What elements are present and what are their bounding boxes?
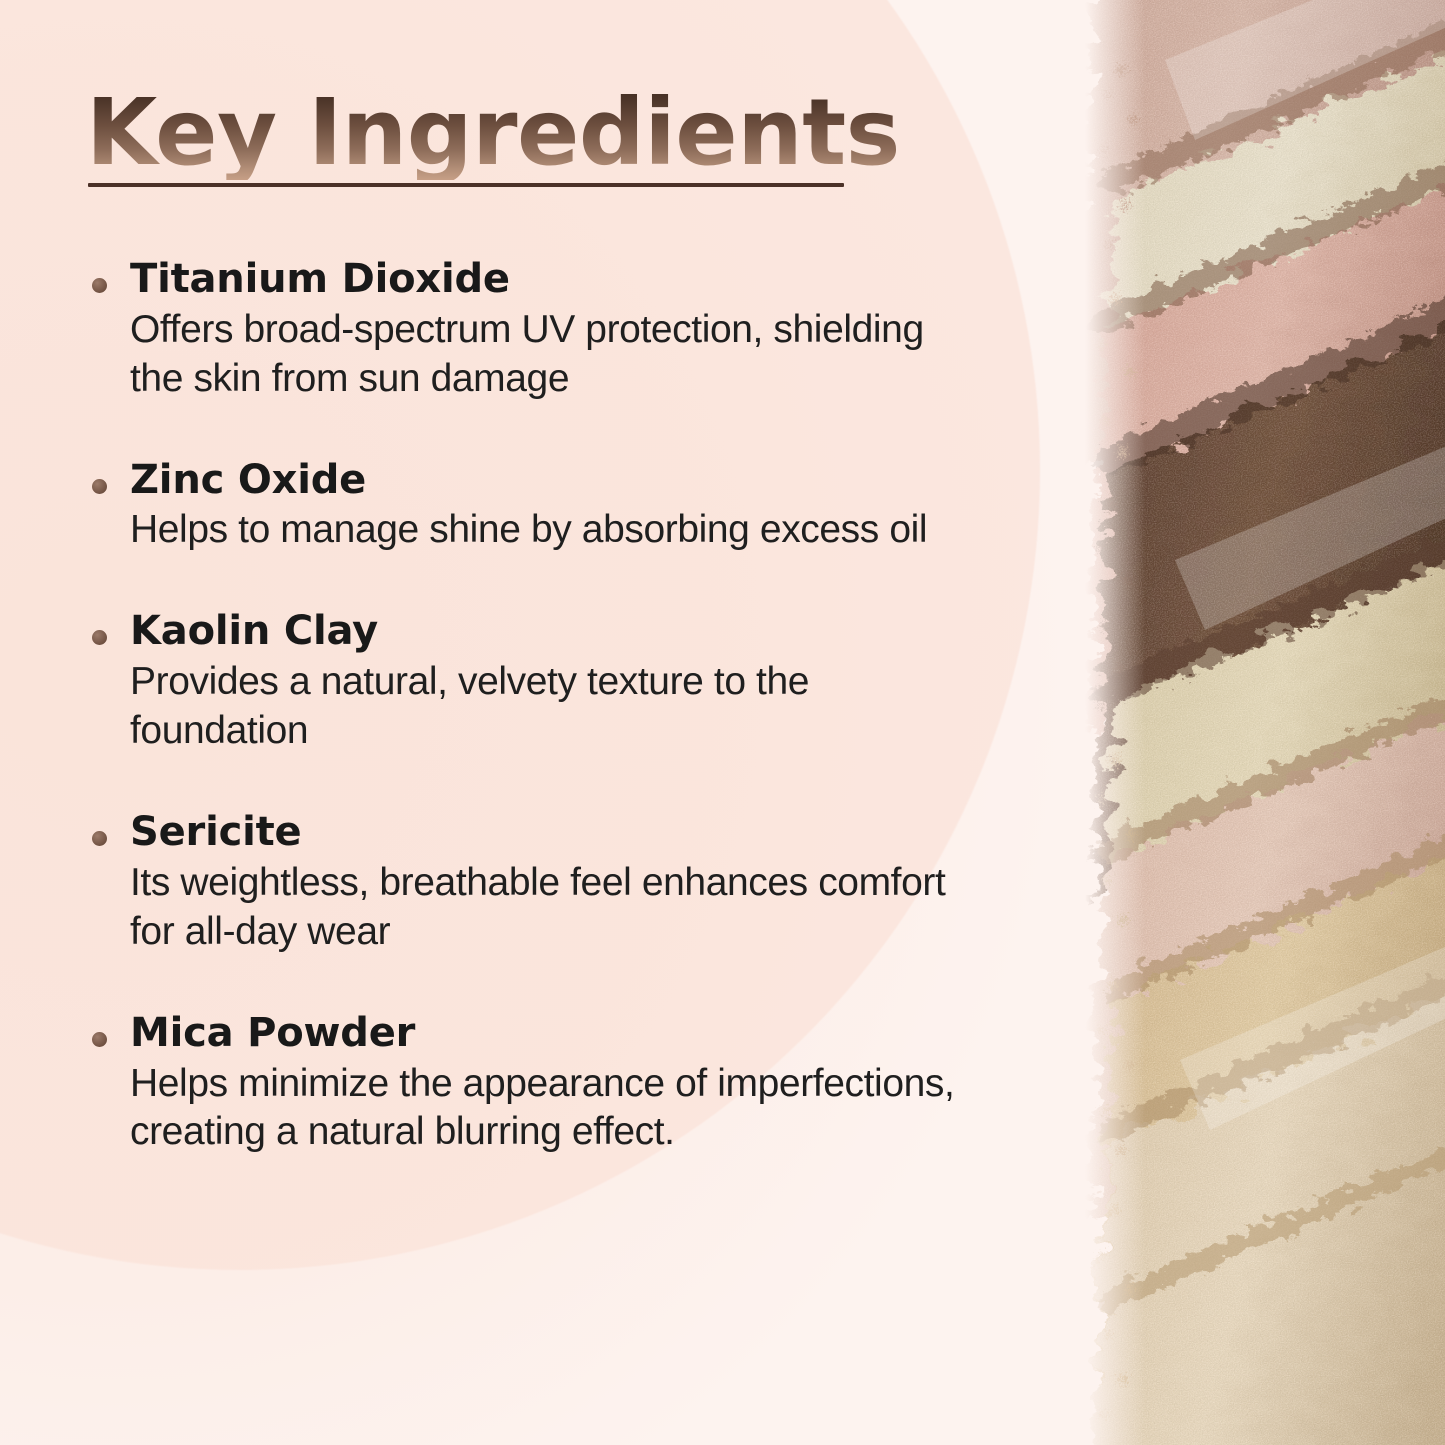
title-underline — [88, 183, 844, 187]
bullet-dot-icon — [92, 278, 107, 293]
bullet-dot-icon — [92, 630, 107, 645]
ingredient-description: Its weightless, breathable feel enhances… — [130, 859, 958, 957]
powder-photo — [1085, 0, 1445, 1445]
list-item: Kaolin Clay Provides a natural, velvety … — [88, 607, 958, 756]
ingredient-name: Kaolin Clay — [130, 607, 958, 656]
ingredient-name: Sericite — [130, 808, 958, 857]
ingredient-name: Titanium Dioxide — [130, 255, 958, 304]
bullet-dot-icon — [92, 831, 107, 846]
ingredient-description: Helps to manage shine by absorbing exces… — [130, 506, 958, 555]
ingredient-description: Offers broad-spectrum UV protection, shi… — [130, 306, 958, 404]
list-item: Sericite Its weightless, breathable feel… — [88, 808, 958, 957]
ingredient-list: Titanium Dioxide Offers broad-spectrum U… — [88, 255, 958, 1157]
list-item: Mica Powder Helps minimize the appearanc… — [88, 1009, 958, 1158]
content-column: Key Ingredients Titanium Dioxide Offers … — [0, 0, 1000, 1445]
key-ingredients-infographic: Key Ingredients Titanium Dioxide Offers … — [0, 0, 1445, 1445]
ingredient-name: Mica Powder — [130, 1009, 958, 1058]
ingredient-description: Provides a natural, velvety texture to t… — [130, 658, 958, 756]
bullet-dot-icon — [92, 479, 107, 494]
list-item: Zinc Oxide Helps to manage shine by abso… — [88, 456, 958, 556]
list-item: Titanium Dioxide Offers broad-spectrum U… — [88, 255, 958, 404]
ingredient-description: Helps minimize the appearance of imperfe… — [130, 1060, 958, 1158]
ingredient-name: Zinc Oxide — [130, 456, 958, 505]
page-title: Key Ingredients — [86, 86, 900, 180]
bullet-dot-icon — [92, 1032, 107, 1047]
